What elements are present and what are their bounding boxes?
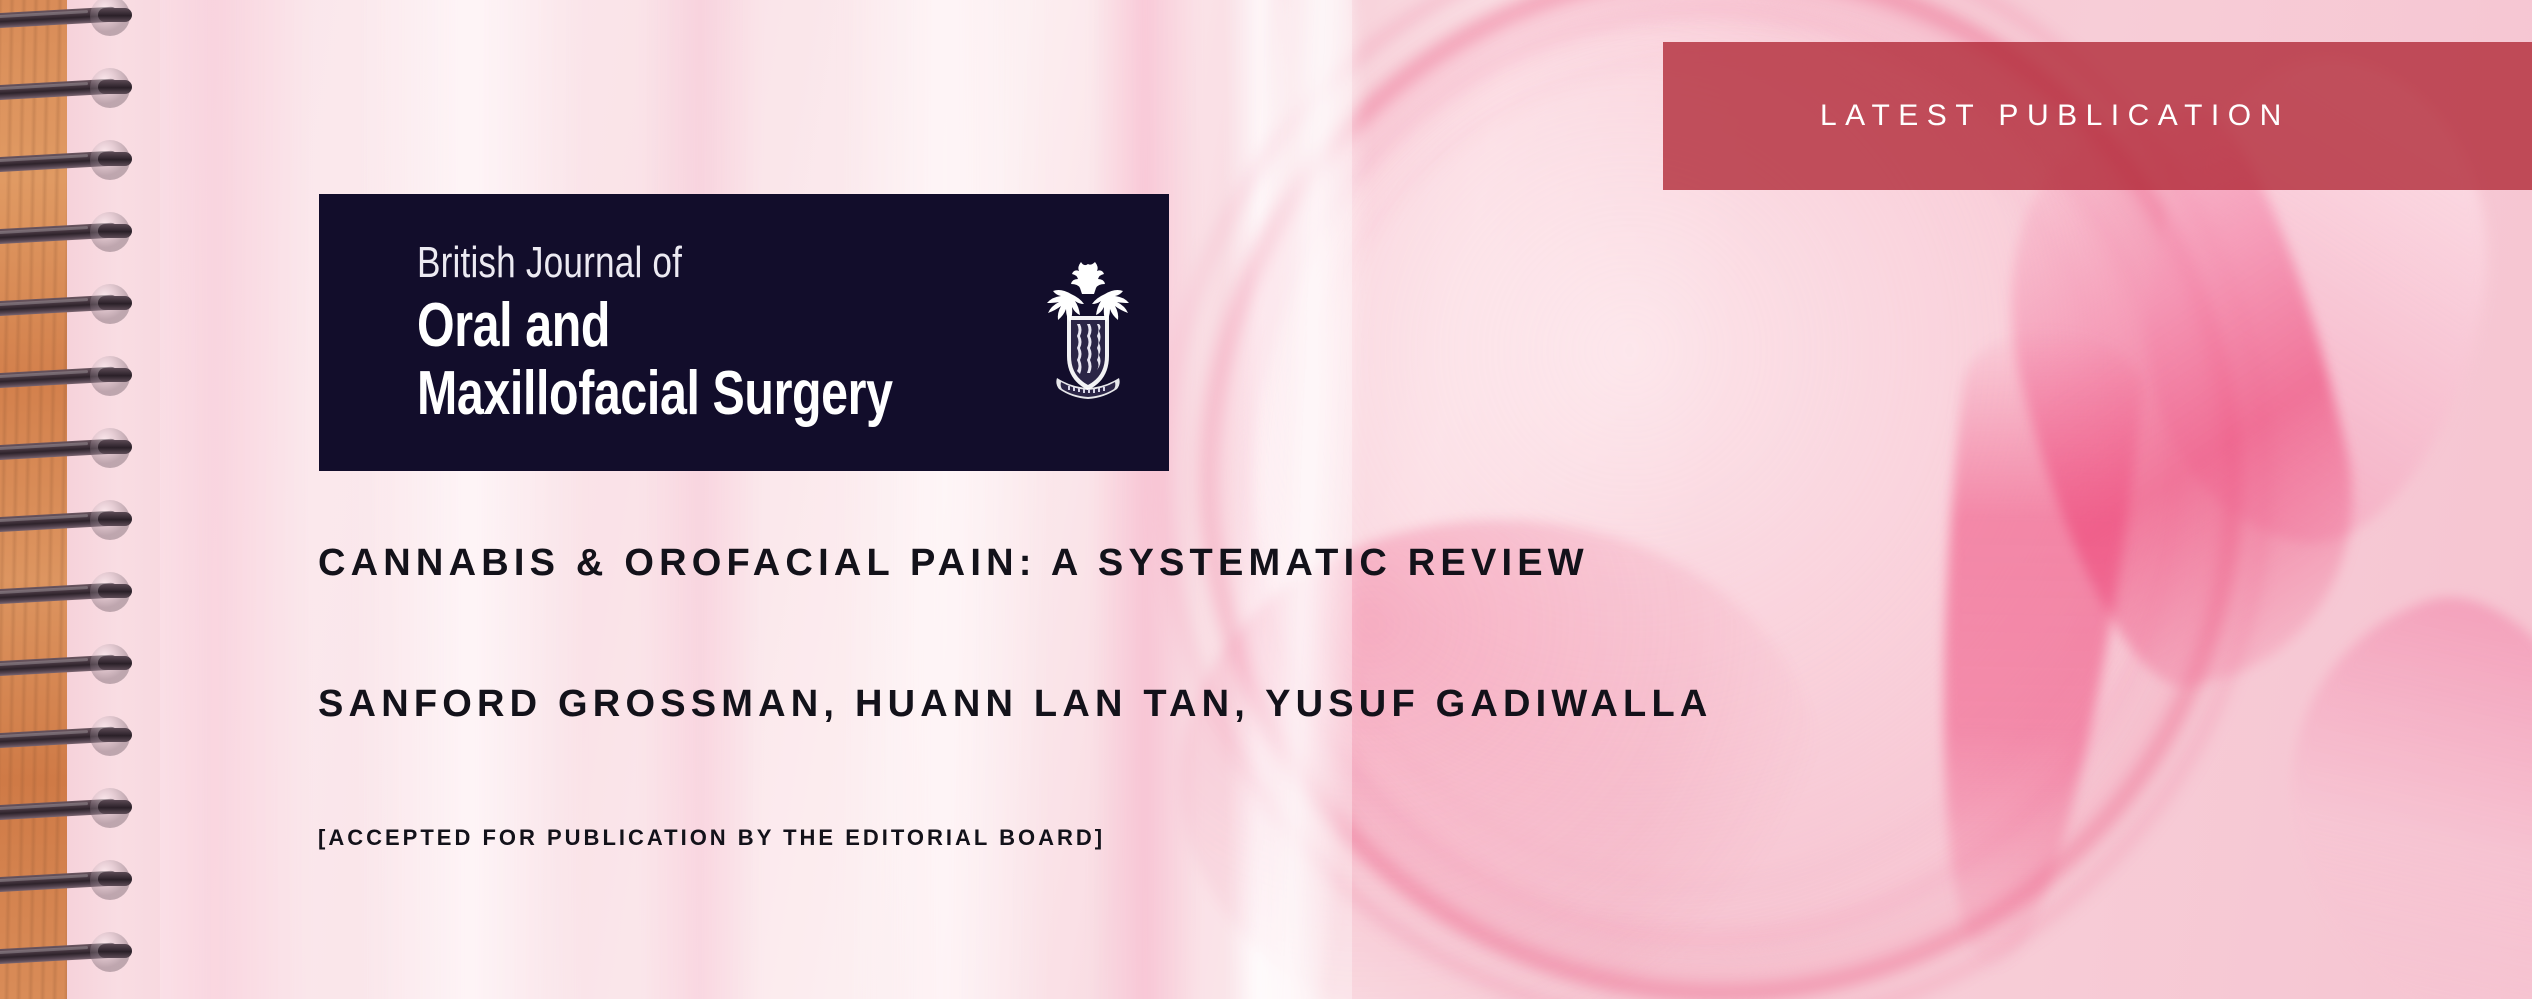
spiral-binding-icon [0, 0, 160, 999]
wooden-desk-strip [0, 0, 67, 999]
journal-logo-text: British Journal of Oral and Maxillofacia… [417, 241, 1027, 425]
authors-line: SANFORD GROSSMAN, HUANN LAN TAN, YUSUF G… [318, 683, 1713, 726]
latest-publication-badge: LATEST PUBLICATION [1663, 42, 2532, 190]
journal-name-line-3: Maxillofacial Surgery [417, 363, 893, 425]
journal-logo-plate: British Journal of Oral and Maxillofacia… [319, 194, 1169, 471]
journal-name-line-1: British Journal of [417, 241, 905, 285]
acceptance-note: [ACCEPTED FOR PUBLICATION BY THE EDITORI… [318, 825, 1105, 851]
journal-name-line-2: Oral and [417, 295, 893, 357]
paper-edge-strip [67, 0, 160, 999]
publication-hero-banner: British Journal of Oral and Maxillofacia… [0, 0, 2532, 999]
page-title: CANNABIS & OROFACIAL PAIN: A SYSTEMATIC … [318, 542, 1589, 585]
coat-of-arms-crest-icon [1027, 258, 1149, 408]
latest-publication-label: LATEST PUBLICATION [1820, 99, 2290, 133]
